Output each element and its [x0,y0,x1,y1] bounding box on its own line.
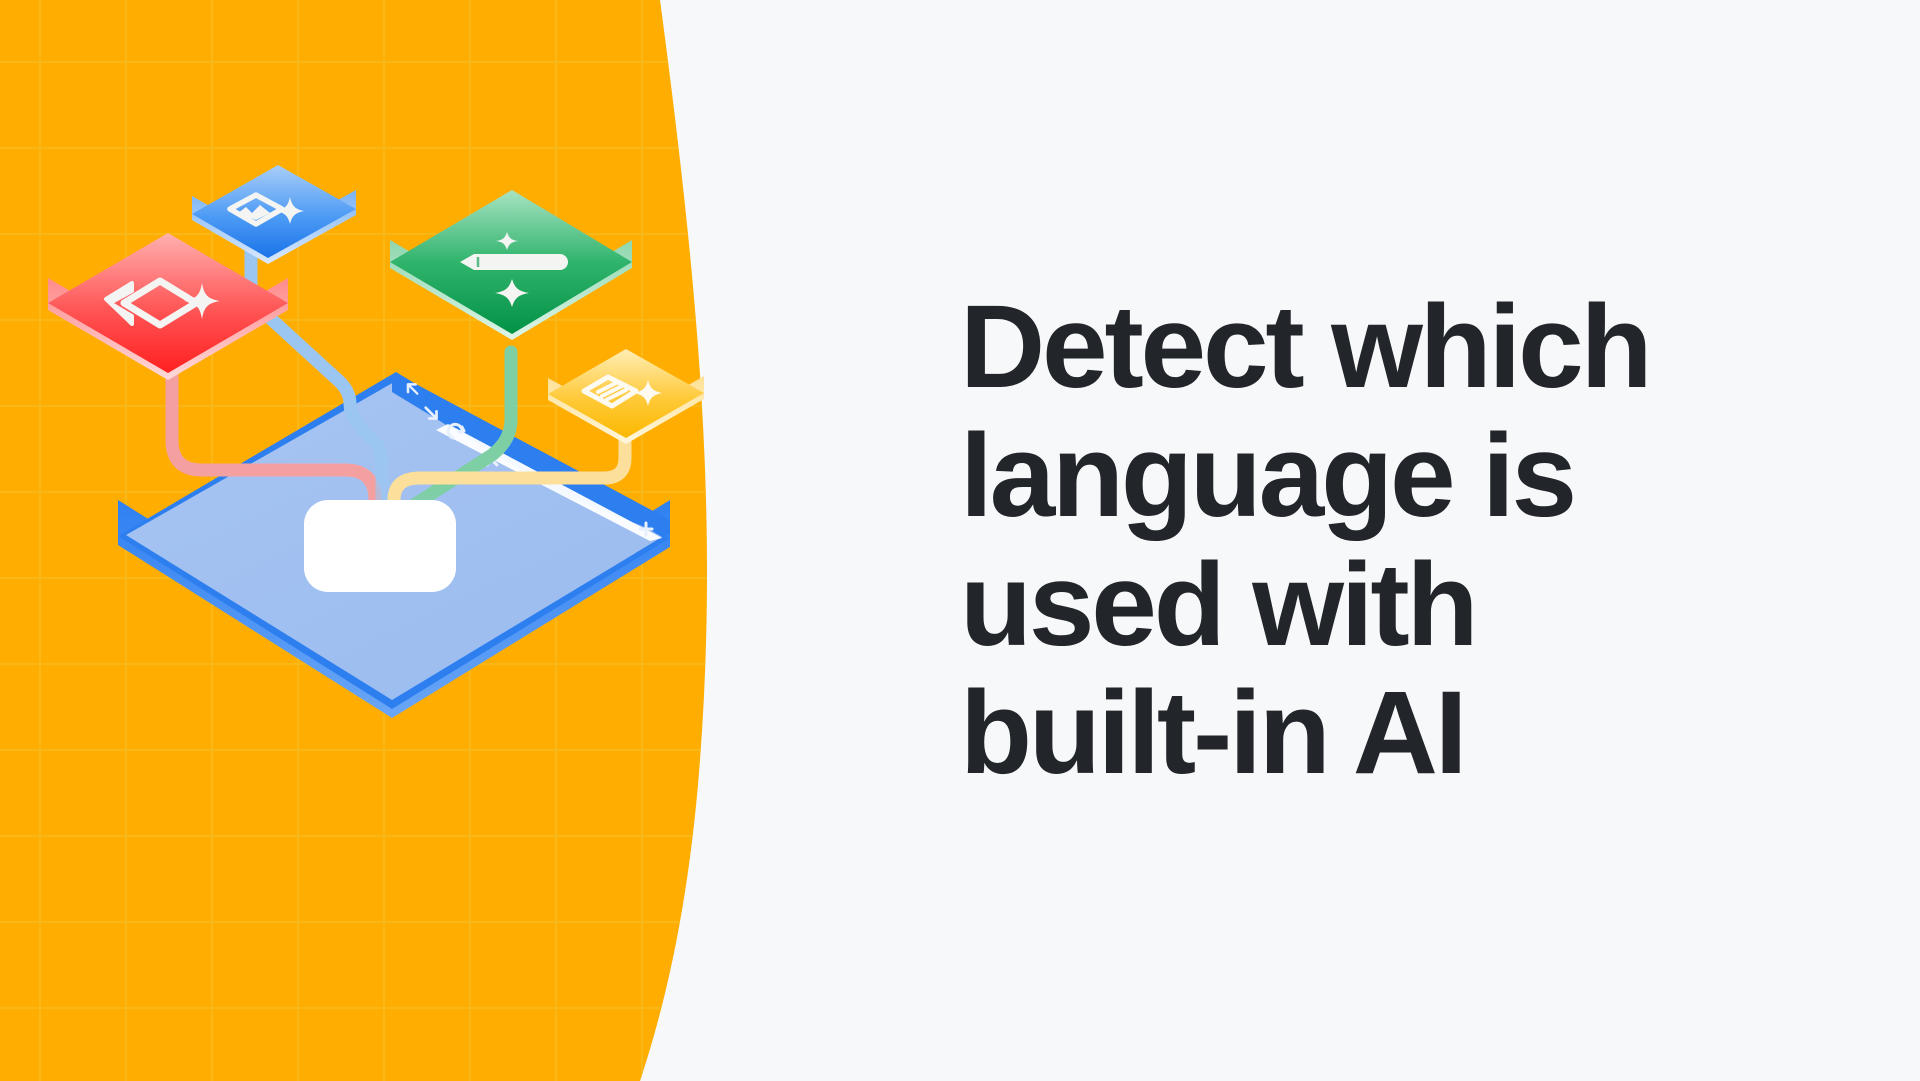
illustration-panel [0,0,880,1081]
page-title-line-3: used with [960,539,1475,671]
page-title-line-4: built-in AI [960,667,1464,799]
page-title-line-2: language is [960,410,1574,542]
illustration-svg [0,0,880,1081]
hero-section: Detect whichlanguage isused withbuilt-in… [960,0,1860,1081]
page-title-line-1: Detect which [960,281,1649,413]
center-white-card[interactable] [304,500,456,592]
page-root: Detect whichlanguage isused withbuilt-in… [0,0,1920,1081]
page-title: Detect whichlanguage isused withbuilt-in… [960,283,1760,797]
